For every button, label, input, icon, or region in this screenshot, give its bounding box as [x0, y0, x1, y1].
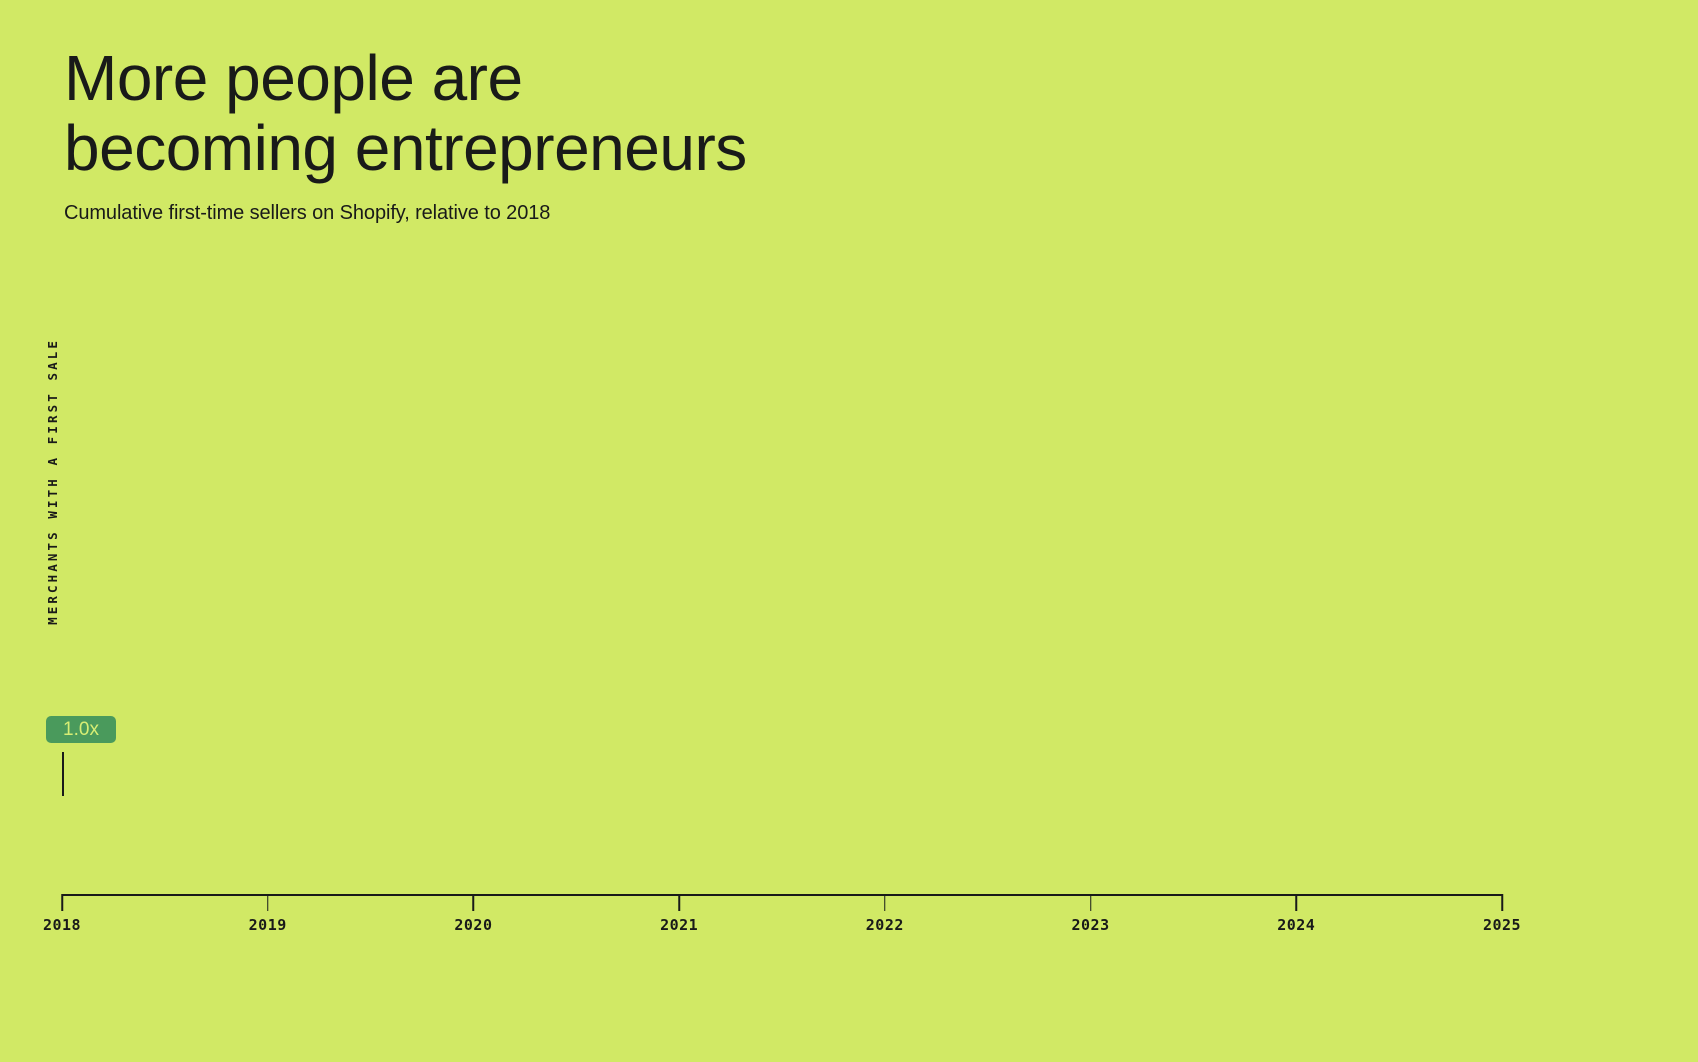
x-tick-label-2019: 2019 [249, 916, 287, 934]
x-tick-2021 [678, 894, 680, 911]
x-tick-2022 [884, 894, 886, 911]
x-tick-label-2024: 2024 [1277, 916, 1315, 934]
x-tick-2018 [61, 894, 63, 911]
x-tick-label-2022: 2022 [866, 916, 904, 934]
x-tick-2020 [473, 894, 475, 911]
x-tick-label-2023: 2023 [1072, 916, 1110, 934]
x-tick-label-2020: 2020 [454, 916, 492, 934]
series-stem-2018 [62, 752, 64, 796]
x-tick-2023 [1090, 894, 1092, 911]
chart-page: More people are becoming entrepreneurs C… [0, 0, 1698, 1062]
value-badge-2018[interactable]: 1.0x [46, 716, 116, 743]
x-axis: 20182019202020212022202320242025 [62, 894, 1502, 895]
x-tick-label-2018: 2018 [43, 916, 81, 934]
x-axis-line [62, 894, 1502, 896]
chart-header: More people are becoming entrepreneurs C… [64, 44, 1164, 225]
x-tick-label-2021: 2021 [660, 916, 698, 934]
chart-subtitle: Cumulative first-time sellers on Shopify… [64, 202, 1164, 225]
x-tick-2019 [267, 894, 269, 911]
x-tick-2024 [1296, 894, 1298, 911]
x-tick-2025 [1501, 894, 1503, 911]
x-tick-label-2025: 2025 [1483, 916, 1521, 934]
y-axis-title: MERCHANTS WITH A FIRST SALE [45, 338, 60, 648]
page-title: More people are becoming entrepreneurs [64, 44, 1164, 184]
